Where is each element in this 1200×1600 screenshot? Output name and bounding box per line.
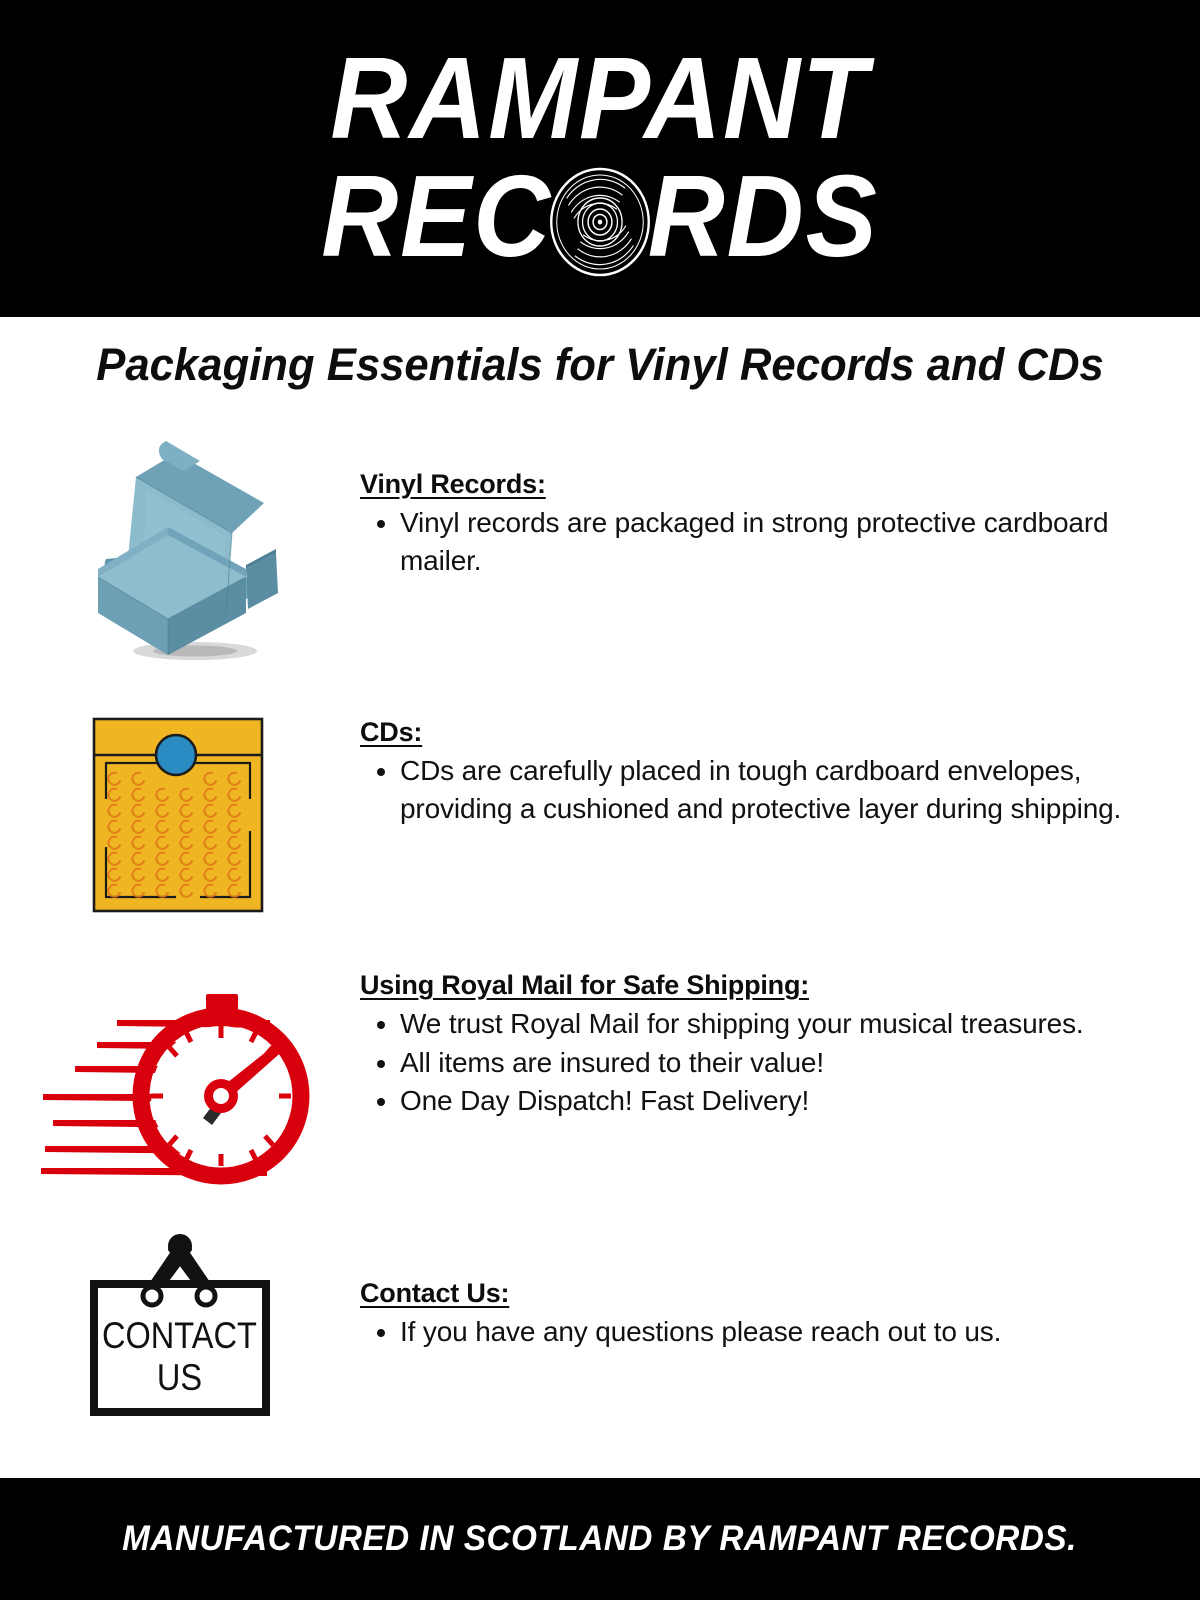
contact-sign-line-1-text: CONTACT [102,1315,257,1356]
list-item: All items are insured to their value! [400,1044,1170,1082]
section-cds-text-cell: CDs: CDs are carefully placed in tough c… [360,707,1200,828]
list-item: One Day Dispatch! Fast Delivery! [400,1082,1170,1120]
section-vinyl-heading: Vinyl Records: [360,469,1170,500]
section-cds: CDs: CDs are carefully placed in tough c… [0,707,1200,922]
brand-header: RAMPANT REC [0,0,1200,317]
fast-stopwatch-icon [35,962,325,1202]
list-item: CDs are carefully placed in tough cardbo… [400,752,1170,827]
brand-logo-line-2-before: REC [321,163,552,270]
list-item: If you have any questions please reach o… [400,1313,1170,1351]
footer-text: MANUFACTURED IN SCOTLAND BY RAMPANT RECO… [123,1519,1078,1559]
contact-sign-line-2-text: US [157,1357,202,1398]
section-royal-mail-icon-cell [0,962,360,1202]
section-vinyl-bullets: Vinyl records are packaged in strong pro… [360,504,1170,579]
vinyl-record-icon [548,166,651,278]
section-royal-mail-bullets: We trust Royal Mail for shipping your mu… [360,1005,1170,1120]
section-royal-mail: Using Royal Mail for Safe Shipping: We t… [0,962,1200,1202]
section-contact-us: CONTACT US Contact Us: If you have any q… [0,1230,1200,1420]
page-footer: MANUFACTURED IN SCOTLAND BY RAMPANT RECO… [0,1478,1200,1600]
brand-logo-line-1: RAMPANT [331,45,870,152]
section-cds-icon-cell [0,707,360,922]
list-item: Vinyl records are packaged in strong pro… [400,504,1170,579]
section-vinyl-icon-cell [0,417,360,667]
section-royal-mail-text-cell: Using Royal Mail for Safe Shipping: We t… [360,962,1200,1121]
contact-us-sign-icon: CONTACT US [80,1230,280,1420]
section-vinyl-records: Vinyl Records: Vinyl records are package… [0,417,1200,667]
section-contact-us-heading: Contact Us: [360,1278,1170,1309]
section-vinyl-text-cell: Vinyl Records: Vinyl records are package… [360,417,1200,580]
section-cds-bullets: CDs are carefully placed in tough cardbo… [360,752,1170,827]
page-subtitle: Packaging Essentials for Vinyl Records a… [18,339,1182,391]
brand-logo-line-2: REC [321,160,878,272]
section-royal-mail-heading: Using Royal Mail for Safe Shipping: [360,970,1170,1001]
brand-logo-line-2-after: RDS [648,163,879,270]
list-item: We trust Royal Mail for shipping your mu… [400,1005,1170,1043]
cardboard-mailer-box-icon [50,417,310,667]
padded-envelope-icon [80,707,280,922]
section-cds-heading: CDs: [360,717,1170,748]
content-sections: Vinyl Records: Vinyl records are package… [0,399,1200,1420]
page-subtitle-band: Packaging Essentials for Vinyl Records a… [0,317,1200,399]
section-contact-us-text-cell: Contact Us: If you have any questions pl… [360,1230,1200,1352]
section-contact-us-bullets: If you have any questions please reach o… [360,1313,1170,1351]
section-contact-us-icon-cell: CONTACT US [0,1230,360,1420]
